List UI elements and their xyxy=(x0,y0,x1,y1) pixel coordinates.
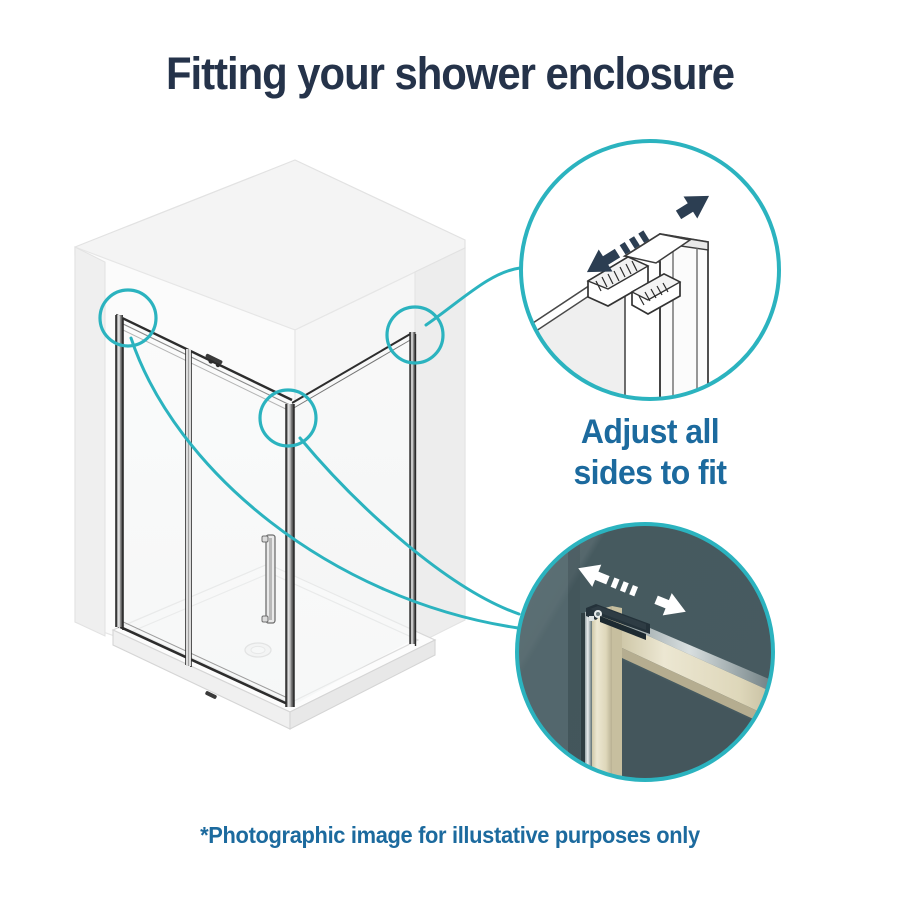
corner-post xyxy=(286,404,294,707)
footnote-disclaimer: *Photographic image for illustative purp… xyxy=(23,822,878,849)
corner-wall xyxy=(75,160,465,700)
page-title: Fitting your shower enclosure xyxy=(32,48,869,100)
callout-heading: Adjust all sides to fit xyxy=(523,412,777,495)
callout-heading-line-1: Adjust all xyxy=(523,412,777,453)
leader-centre-to-bottom-detail xyxy=(300,438,519,614)
shower-tray xyxy=(113,564,435,729)
infographic-page: Fitting your shower enclosure xyxy=(0,0,900,900)
side-return-panel xyxy=(292,333,412,706)
wall-profile-right xyxy=(410,332,416,646)
wall-profile-left xyxy=(116,315,123,630)
marker-centre-corner[interactable] xyxy=(260,390,316,446)
callout-heading-line-2: sides to fit xyxy=(523,453,777,494)
front-glass-panels xyxy=(116,315,292,763)
marker-right-top-profile[interactable] xyxy=(387,307,443,363)
marker-left-top-profile[interactable] xyxy=(100,290,156,346)
leader-left-to-bottom-detail xyxy=(131,338,518,628)
adjust-arrow-double-headed xyxy=(574,557,691,623)
adjust-arrow-double-headed xyxy=(580,185,716,283)
leader-right-to-top-detail xyxy=(426,268,520,325)
drain-waste xyxy=(245,643,271,657)
door-handle xyxy=(262,535,275,623)
